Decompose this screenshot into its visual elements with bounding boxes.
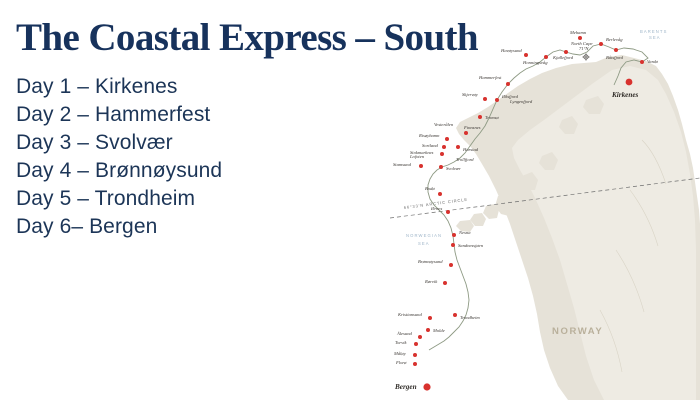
port-label: Florø [395,360,407,365]
port-label: Mehamn [569,30,587,35]
page-root: The Coastal Express – South Day 1 – Kirk… [0,0,700,400]
port-maloy[interactable]: Måløy [393,351,417,357]
route-map: 66°33'N ARCTIC CIRCLE BARENTS SEA NORWEG… [390,0,700,400]
region-label-trollfjord: Trollfjord [456,157,474,162]
port-label: Rørvik [424,279,438,284]
port-label: Tromsø [485,115,499,120]
port-label: Sortland [422,143,439,148]
port-label: Båtsfjord [606,55,624,60]
port-label: Hammerfest [478,75,502,80]
port-stamsund[interactable]: Stamsund [393,162,423,168]
region-label-vesteralen: Vesterålen [434,122,454,127]
port-bronnoysund[interactable]: Brønnøysund [418,259,453,267]
port-havoysund[interactable]: Havøysund [500,48,528,57]
list-item: Day 5 – Trondheim [16,185,400,213]
endpoint-label: Kirkenes [611,91,639,99]
port-rorvik[interactable]: Rørvik [424,279,447,285]
norwegian-sea-label-line2: SEA [418,241,430,246]
barents-sea-label-line2: SEA [649,35,661,40]
port-trondheim[interactable]: Trondheim [453,313,480,320]
port-label: Skjervøy [462,92,479,97]
port-label: Vardø [647,59,659,64]
norwegian-sea-label-line1: NORWEGIAN [406,233,442,238]
region-label-lyngenfjord: Lyngenfjord [509,99,533,104]
page-title: The Coastal Express – South [16,18,400,57]
port-label: Ørnes [430,206,442,211]
port-label: Molde [432,328,445,333]
endpoint-label: Bergen [394,383,417,391]
port-label: Finnsnes [463,125,481,130]
port-label: Bodø [425,186,435,191]
port-batsfjord[interactable]: Båtsfjord [606,48,624,60]
port-label: Brønnøysund [418,259,443,264]
port-harstad[interactable]: Harstad [456,145,479,152]
endpoint-bergen[interactable]: Bergen [394,383,431,391]
port-hammerfest[interactable]: Hammerfest [478,75,510,86]
north-cape-marker: North Cape 71°N [570,41,593,61]
port-label: Kristiansund [397,312,422,317]
port-label: Trondheim [460,315,480,320]
port-risoyhamn[interactable]: Risøyhamn [418,133,449,141]
port-label: Ålesund [396,331,413,336]
list-item: Day 4 – Brønnøysund [16,157,400,185]
port-molde[interactable]: Molde [426,328,445,333]
barents-sea-label-line1: BARENTS [640,29,667,34]
itinerary-day-list: Day 1 – Kirkenes Day 2 – Hammerfest Day … [16,73,400,241]
port-bodo[interactable]: Bodø [425,186,442,196]
port-berlevag[interactable]: Berlevåg [599,37,623,46]
port-label: Sandnessjøen [458,243,484,248]
port-label: Harstad [462,147,479,152]
port-torvik[interactable]: Torvik [395,340,418,346]
port-nesna[interactable]: Nesna [452,230,471,237]
port-label: Torvik [395,340,408,345]
list-item: Day 3 – Svolvær [16,129,400,157]
port-skjervoy[interactable]: Skjervøy [462,92,487,101]
port-svolvaer[interactable]: Svolvær [439,165,461,171]
port-label: Måløy [393,351,407,356]
port-label: Øksfjord [501,94,519,99]
port-label: Nesna [458,230,471,235]
port-label: Stamsund [393,162,412,167]
port-label: Havøysund [500,48,522,53]
port-label: Svolvær [446,166,461,171]
port-floro[interactable]: Florø [395,360,417,366]
list-item: Day 2 – Hammerfest [16,101,400,129]
list-item: Day 1 – Kirkenes [16,73,400,101]
port-sandnessjoen[interactable]: Sandnessjøen [451,243,484,248]
map-landmass [456,55,700,400]
port-mehamn[interactable]: Mehamn [569,30,587,40]
itinerary-panel: The Coastal Express – South Day 1 – Kirk… [0,0,400,400]
port-kristiansund[interactable]: Kristiansund [397,312,432,320]
port-vardo[interactable]: Vardø [640,59,659,64]
port-label: Berlevåg [606,37,623,42]
list-item: Day 6– Bergen [16,213,400,241]
port-alesund[interactable]: Ålesund [396,331,422,339]
port-label: Stokmarknes [410,150,434,155]
port-label: Honningsvåg [522,60,548,65]
country-label: NORWAY [552,326,603,337]
north-cape-label-line2: 71°N [579,46,589,51]
port-sortland[interactable]: Sortland [422,143,446,149]
port-label: Risøyhamn [418,133,440,138]
port-label: Kjøllefjord [552,55,574,60]
